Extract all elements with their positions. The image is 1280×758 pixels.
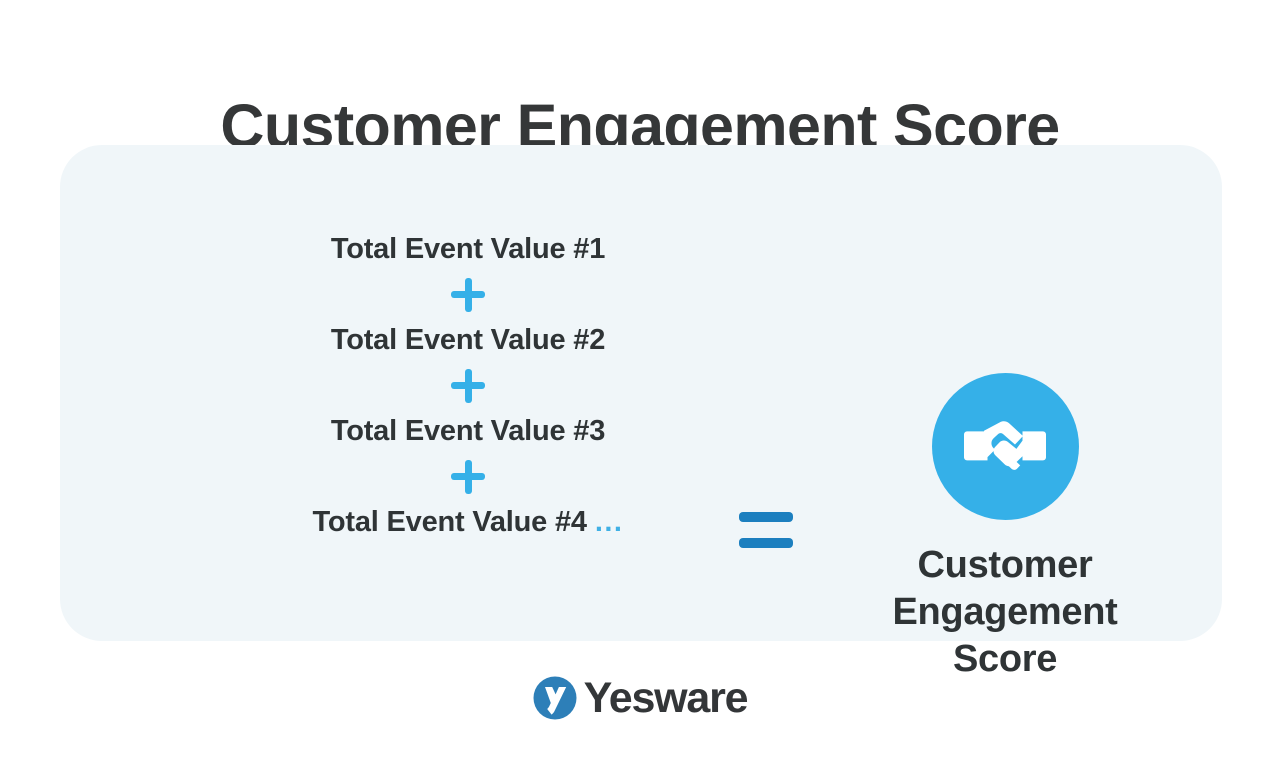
ellipsis-indicator: ... — [595, 506, 624, 538]
plus-icon-2-vertical-bar — [465, 369, 472, 403]
handshake-icon-circle — [932, 373, 1079, 520]
plus-icon-2 — [218, 359, 718, 412]
result-label-line-2: Engagement — [840, 589, 1170, 636]
sum-column: Total Event Value #1 Total Event Value #… — [218, 230, 718, 541]
equals-icon — [739, 512, 793, 548]
equals-icon-bottom-bar — [739, 538, 793, 548]
sum-term-2-label: Total Event Value #2 — [331, 324, 605, 356]
sum-term-3-label: Total Event Value #3 — [331, 415, 605, 447]
brand-wordmark: Yesware — [584, 676, 748, 720]
plus-icon-3-vertical-bar — [465, 460, 472, 494]
plus-icon-3 — [218, 450, 718, 503]
sum-term-3: Total Event Value #3 — [218, 412, 718, 450]
sum-term-1: Total Event Value #1 — [218, 230, 718, 268]
plus-icon-1 — [218, 268, 718, 321]
result-label-line-1: Customer — [840, 542, 1170, 589]
infographic-page: Customer Engagement Score Total Event Va… — [0, 0, 1280, 758]
formula-card: Total Event Value #1 Total Event Value #… — [60, 145, 1222, 641]
sum-term-1-label: Total Event Value #1 — [331, 233, 605, 265]
result-label: Customer Engagement Score — [840, 542, 1170, 683]
plus-icon-1-vertical-bar — [465, 278, 472, 312]
handshake-icon — [962, 416, 1048, 478]
result-block: Customer Engagement Score — [840, 373, 1170, 683]
sum-term-4: Total Event Value #4... — [218, 503, 718, 541]
sum-term-4-label: Total Event Value #4 — [313, 506, 587, 538]
yesware-y-logo-icon — [533, 676, 577, 720]
equals-icon-top-bar — [739, 512, 793, 522]
brand-logo: Yesware — [0, 668, 1280, 728]
sum-term-2: Total Event Value #2 — [218, 321, 718, 359]
